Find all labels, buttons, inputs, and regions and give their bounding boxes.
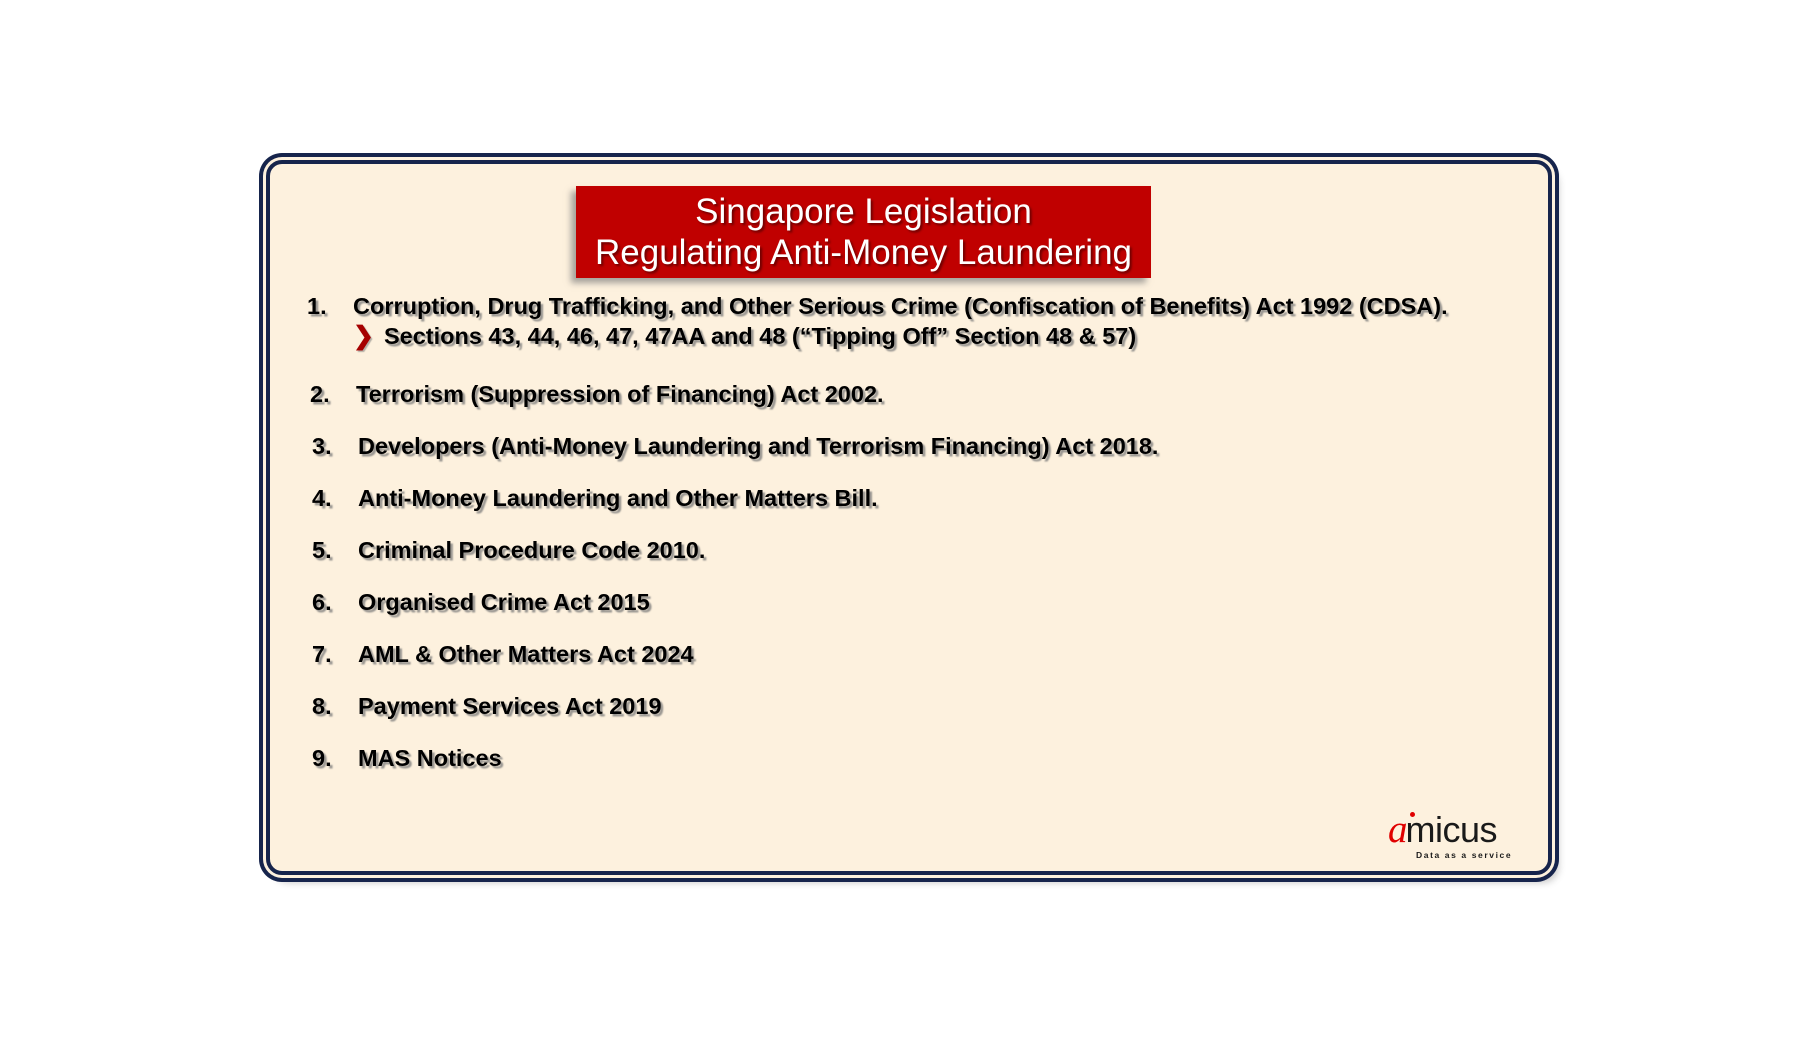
list-item-text: AML & Other Matters Act 2024	[358, 640, 694, 668]
title-line-2: Regulating Anti-Money Laundering	[595, 232, 1132, 273]
sub-bullet-text: Sections 43, 44, 46, 47, 47AA and 48 (“T…	[384, 322, 1136, 350]
list-item: 4. Anti-Money Laundering and Other Matte…	[312, 484, 1538, 512]
list-item: 3. Developers (Anti-Money Laundering and…	[312, 432, 1538, 460]
list-item-number: 8.	[312, 692, 358, 720]
list-item-number: 3.	[312, 432, 358, 460]
list-item-text: Anti-Money Laundering and Other Matters …	[358, 484, 878, 512]
logo-dot-icon	[1410, 812, 1415, 817]
title-banner: Singapore Legislation Regulating Anti-Mo…	[576, 186, 1151, 278]
sub-bullet: ❯ Sections 43, 44, 46, 47, 47AA and 48 (…	[353, 322, 1136, 350]
title-line-1: Singapore Legislation	[695, 191, 1032, 232]
list-item-text: Organised Crime Act 2015	[358, 588, 650, 616]
list-item-number: 6.	[312, 588, 358, 616]
list-item-number: 2.	[310, 380, 356, 408]
list-item-text: Payment Services Act 2019	[358, 692, 662, 720]
slide-card: Singapore Legislation Regulating Anti-Mo…	[266, 160, 1552, 875]
list-item-number: 7.	[312, 640, 358, 668]
list-item: 9. MAS Notices	[312, 744, 1538, 772]
list-item: 1. Corruption, Drug Trafficking, and Oth…	[307, 292, 1538, 320]
brand-logo: a micus Data as a service	[1388, 811, 1538, 863]
logo-text: micus	[1406, 811, 1498, 849]
list-item: 6. Organised Crime Act 2015	[312, 588, 1538, 616]
list-item-text: Criminal Procedure Code 2010.	[358, 536, 705, 564]
list-item-number: 9.	[312, 744, 358, 772]
list-item: 5. Criminal Procedure Code 2010.	[312, 536, 1538, 564]
list-item: 8. Payment Services Act 2019	[312, 692, 1538, 720]
list-item-number: 5.	[312, 536, 358, 564]
list-item-number: 1.	[307, 292, 353, 320]
list-item-text: MAS Notices	[358, 744, 502, 772]
list-item: 2. Terrorism (Suppression of Financing) …	[310, 380, 1538, 408]
list-item: 7. AML & Other Matters Act 2024	[312, 640, 1538, 668]
logo-wordmark: a micus	[1388, 811, 1497, 849]
logo-tagline: Data as a service	[1416, 850, 1512, 860]
list-item-text: Corruption, Drug Trafficking, and Other …	[353, 292, 1448, 320]
list-item-text: Terrorism (Suppression of Financing) Act…	[356, 380, 884, 408]
chevron-right-icon: ❯	[353, 322, 374, 350]
list-item-text: Developers (Anti-Money Laundering and Te…	[358, 432, 1158, 460]
list-item-number: 4.	[312, 484, 358, 512]
